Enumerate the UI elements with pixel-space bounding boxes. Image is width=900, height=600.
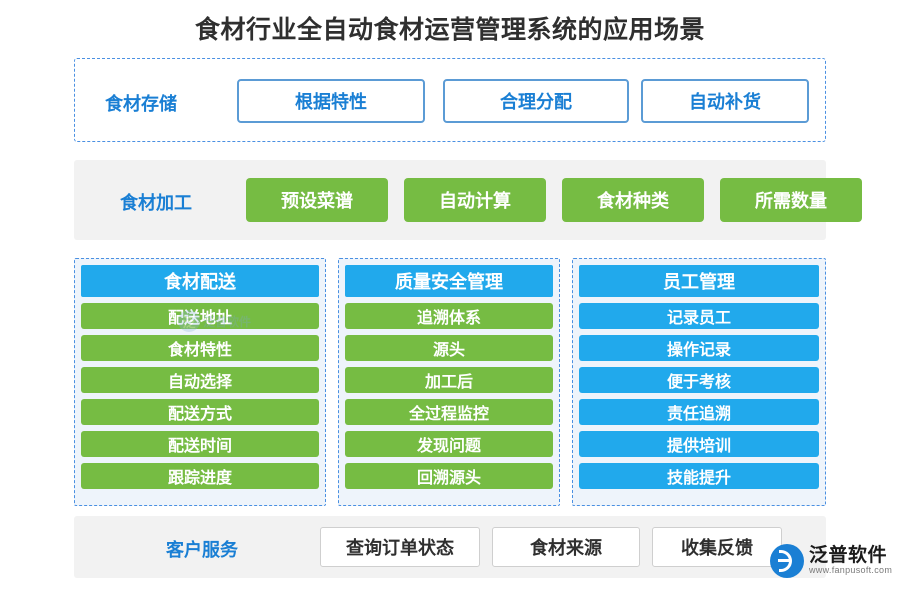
delivery-item-1[interactable]: 食材特性 (81, 335, 319, 361)
processing-row-label: 食材加工 (120, 189, 192, 215)
staff-item-1[interactable]: 操作记录 (579, 335, 819, 361)
staff-item-2[interactable]: 便于考核 (579, 367, 819, 393)
staff-item-5[interactable]: 技能提升 (579, 463, 819, 489)
column-staff: 员工管理 记录员工 操作记录 便于考核 责任追溯 提供培训 技能提升 (572, 258, 826, 506)
fanpu-logo-icon (770, 544, 804, 578)
column-staff-items: 记录员工 操作记录 便于考核 责任追溯 提供培训 技能提升 (579, 303, 819, 499)
delivery-item-4[interactable]: 配送时间 (81, 431, 319, 457)
quality-item-4[interactable]: 发现问题 (345, 431, 553, 457)
quality-item-5[interactable]: 回溯源头 (345, 463, 553, 489)
brand-logo: 泛普软件 www.fanpusoft.com (770, 538, 894, 584)
brand-name-en: www.fanpusoft.com (809, 566, 892, 575)
service-item-2[interactable]: 收集反馈 (652, 527, 782, 567)
quality-item-0[interactable]: 追溯体系 (345, 303, 553, 329)
quality-item-2[interactable]: 加工后 (345, 367, 553, 393)
delivery-item-2[interactable]: 自动选择 (81, 367, 319, 393)
section-storage: 食材存储 根据特性 合理分配 自动补货 (74, 58, 826, 142)
delivery-item-5[interactable]: 跟踪进度 (81, 463, 319, 489)
storage-item-2[interactable]: 自动补货 (641, 79, 809, 123)
brand-name-cn: 泛普软件 (809, 546, 892, 566)
staff-item-4[interactable]: 提供培训 (579, 431, 819, 457)
column-delivery: 食材配送 配送地址 食材特性 自动选择 配送方式 配送时间 跟踪进度 (74, 258, 326, 506)
brand-logo-text: 泛普软件 www.fanpusoft.com (809, 546, 892, 575)
staff-item-3[interactable]: 责任追溯 (579, 399, 819, 425)
section-service: 客户服务 查询订单状态 食材来源 收集反馈 (74, 516, 826, 578)
processing-item-0[interactable]: 预设菜谱 (246, 178, 388, 222)
column-staff-header: 员工管理 (579, 265, 819, 297)
column-quality: 质量安全管理 追溯体系 源头 加工后 全过程监控 发现问题 回溯源头 (338, 258, 560, 506)
processing-item-1[interactable]: 自动计算 (404, 178, 546, 222)
quality-item-3[interactable]: 全过程监控 (345, 399, 553, 425)
page-title: 食材行业全自动食材运营管理系统的应用场景 (0, 10, 900, 46)
column-quality-items: 追溯体系 源头 加工后 全过程监控 发现问题 回溯源头 (345, 303, 553, 499)
delivery-item-3[interactable]: 配送方式 (81, 399, 319, 425)
quality-item-1[interactable]: 源头 (345, 335, 553, 361)
processing-item-2[interactable]: 食材种类 (562, 178, 704, 222)
storage-row-label: 食材存储 (105, 90, 177, 116)
staff-item-0[interactable]: 记录员工 (579, 303, 819, 329)
processing-item-3[interactable]: 所需数量 (720, 178, 862, 222)
service-item-1[interactable]: 食材来源 (492, 527, 640, 567)
column-quality-header: 质量安全管理 (345, 265, 553, 297)
column-delivery-items: 配送地址 食材特性 自动选择 配送方式 配送时间 跟踪进度 (81, 303, 319, 499)
storage-item-1[interactable]: 合理分配 (443, 79, 629, 123)
delivery-item-0[interactable]: 配送地址 (81, 303, 319, 329)
section-processing: 食材加工 预设菜谱 自动计算 食材种类 所需数量 (74, 160, 826, 240)
service-row-label: 客户服务 (166, 536, 238, 562)
column-delivery-header: 食材配送 (81, 265, 319, 297)
diagram-canvas: 食材行业全自动食材运营管理系统的应用场景 食材存储 根据特性 合理分配 自动补货… (0, 0, 900, 600)
storage-item-0[interactable]: 根据特性 (237, 79, 425, 123)
service-item-0[interactable]: 查询订单状态 (320, 527, 480, 567)
